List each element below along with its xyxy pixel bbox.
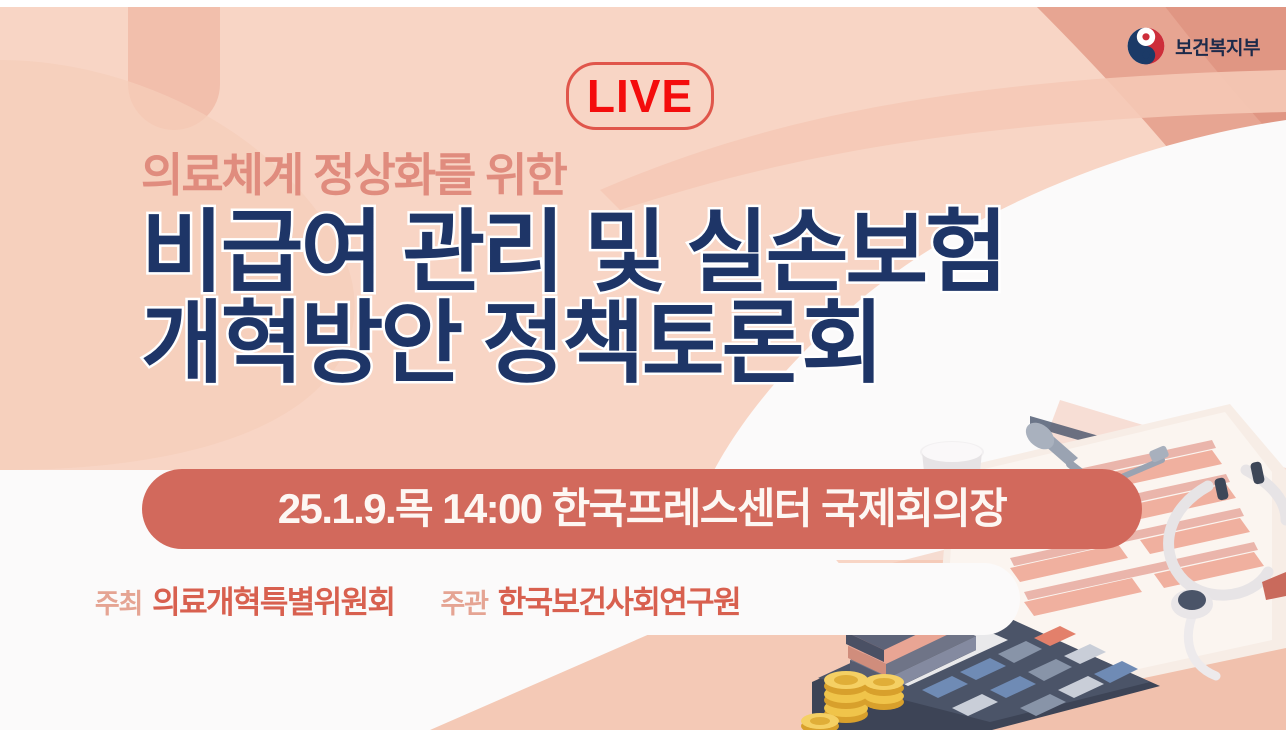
ministry-name-label: 보건복지부 [1175, 33, 1260, 60]
event-title-line-1: 비급여 관리 및 실손보험 [141, 204, 1005, 303]
organizer-host: 주최 의료개혁특별위원회 주관 한국보건사회연구원 [95, 577, 740, 622]
event-poster: 보건복지부 LIVE 의료체계 정상화를 위한 비급여 관리 및 실손보험 개혁… [0, 0, 1286, 730]
organizer-host-name: 의료개혁특별위원회 [152, 577, 394, 622]
event-subtitle: 의료체계 정상화를 위한 [141, 150, 1005, 202]
live-badge: LIVE [566, 62, 714, 130]
stethoscope-chestpiece [1171, 589, 1213, 619]
live-badge-label: LIVE [587, 73, 693, 119]
event-info-bar: 25.1.9.목 14:00 한국프레스센터 국제회의장 [142, 469, 1142, 549]
top-white-strip [0, 0, 1286, 7]
organizer-bar: 주최 의료개혁특별위원회 주관 한국보건사회연구원 [0, 563, 1020, 635]
organizer-host-label: 주최 [95, 582, 142, 621]
headline-block: 의료체계 정상화를 위한 비급여 관리 및 실손보험 개혁방안 정책토론회 [141, 150, 1005, 394]
ministry-logo: 보건복지부 [1126, 26, 1260, 66]
event-datetime-venue: 25.1.9.목 14:00 한국프레스센터 국제회의장 [278, 488, 1006, 530]
organizer-manager-label: 주관 [440, 582, 487, 621]
organizer-manager-name: 한국보건사회연구원 [498, 577, 740, 622]
event-title-line-2: 개혁방안 정책토론회 [141, 295, 1005, 394]
taegeuk-icon [1126, 26, 1166, 66]
